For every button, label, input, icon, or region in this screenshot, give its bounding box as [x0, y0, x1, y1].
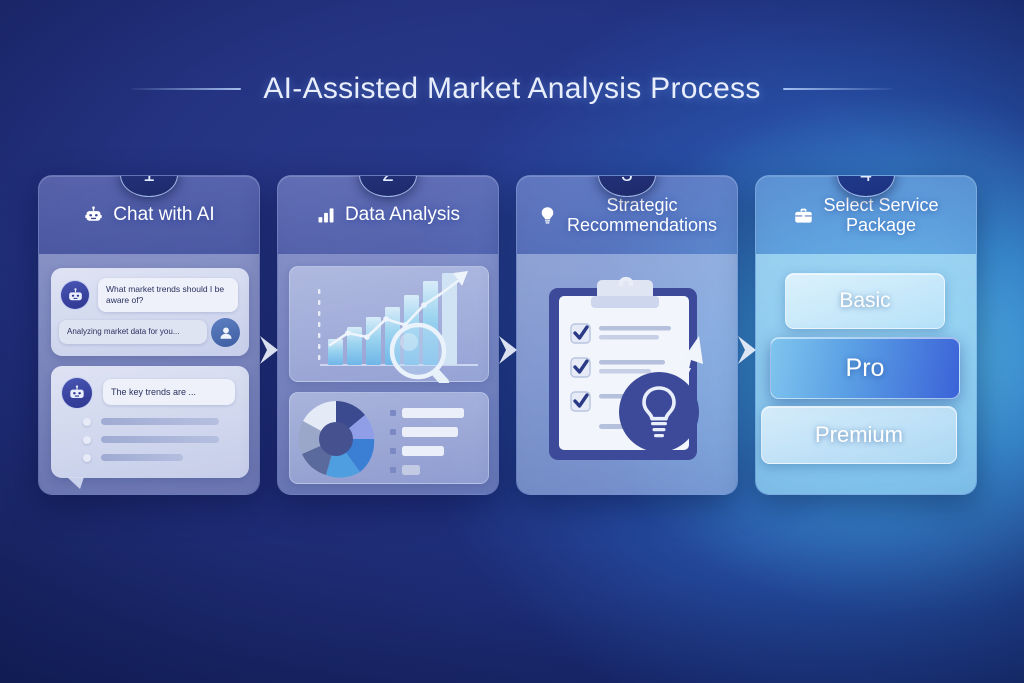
lightbulb-badge-icon: [619, 372, 699, 452]
title-rule-right: [783, 88, 893, 90]
bot-avatar-2: [61, 377, 93, 409]
growth-chart-svg: [290, 267, 490, 383]
panel-body-3: [517, 254, 737, 495]
panel-title-3-line-2: Recommendations: [567, 215, 717, 235]
page-title-area: AI-Assisted Market Analysis Process: [0, 60, 1024, 118]
chat-bubble-ai-reply: Analyzing market data for you...: [59, 320, 207, 344]
bar-chart-icon: [316, 205, 336, 225]
chevron-right-icon-2: [494, 330, 522, 370]
user-avatar: [211, 318, 240, 347]
donut-chart-card: [289, 392, 489, 484]
chat-bubble-ai-trends: The key trends are ...: [103, 379, 235, 405]
chevron-right-icon-3: [733, 330, 761, 370]
lightbulb-icon: [537, 205, 558, 226]
chat-bubble-user-question: What market trends should I be aware of?: [98, 278, 238, 312]
bullet-dot-3: [83, 454, 91, 462]
bullet-dot-2: [83, 436, 91, 444]
panel-body-2: [278, 254, 498, 495]
panel-body-1: What market trends should I be aware of?…: [39, 254, 259, 495]
panel-title-4-line-1: Select Service: [823, 195, 938, 215]
bullet-line-3: [101, 454, 183, 461]
step-panel-data-analysis[interactable]: 2 Data Analysis: [277, 175, 499, 495]
service-tier-basic[interactable]: Basic: [785, 273, 945, 329]
step-panel-chat-with-ai[interactable]: 1 Chat with AI: [38, 175, 260, 495]
bullet-line-2: [101, 436, 219, 443]
panel-body-4: Basic Pro Premium: [756, 254, 976, 495]
title-rule-left: [131, 88, 241, 90]
page-title: AI-Assisted Market Analysis Process: [263, 72, 760, 106]
chat-exchange-first: What market trends should I be aware of?…: [51, 268, 249, 356]
bot-avatar-1: [60, 280, 90, 310]
bullet-line-1: [101, 418, 219, 425]
panel-title-1: Chat with AI: [113, 204, 214, 225]
panel-title-3-line-1: Strategic: [606, 195, 677, 215]
growth-chart-card: [289, 266, 489, 382]
clipboard-graphic: [541, 272, 713, 472]
robot-icon: [83, 205, 104, 226]
chevron-right-icon-1: [255, 330, 283, 370]
service-tier-pro[interactable]: Pro: [770, 337, 960, 399]
bullet-dot-1: [83, 418, 91, 426]
donut-chart-svg: [290, 393, 490, 485]
panel-title-4: Select Service Package: [823, 195, 938, 235]
panel-title-2: Data Analysis: [345, 204, 460, 225]
chat-exchange-second: The key trends are ...: [51, 366, 249, 478]
panel-title-4-line-2: Package: [846, 215, 916, 235]
donut-legend: [390, 408, 464, 475]
panel-title-3: Strategic Recommendations: [567, 195, 717, 235]
step-panel-strategic-recommendations[interactable]: 3 Strategic Recommendations: [516, 175, 738, 495]
briefcase-icon: [793, 205, 814, 226]
step-panel-select-service-package[interactable]: 4 Select Service Package Basic Pro Premi…: [755, 175, 977, 495]
service-tier-premium[interactable]: Premium: [761, 406, 957, 464]
